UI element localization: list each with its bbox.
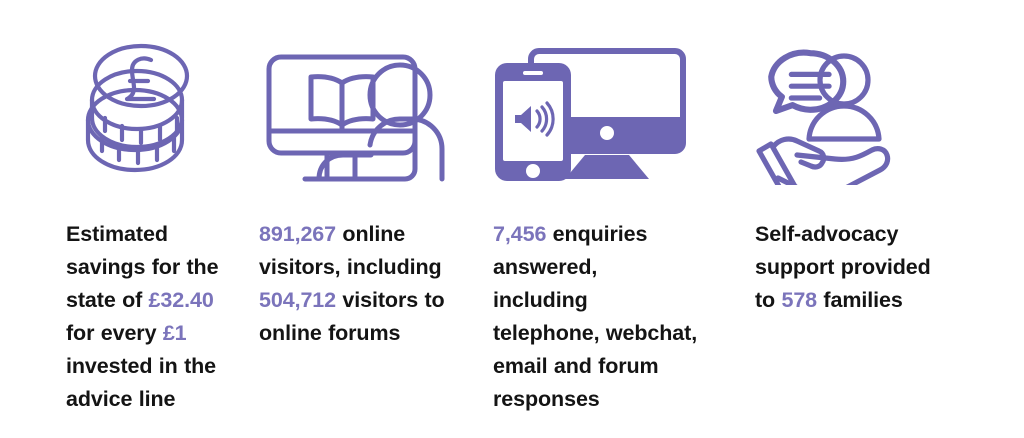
stat-segment: families xyxy=(817,288,903,312)
stat-value: 7,456 xyxy=(493,222,546,246)
stat-column-self-advocacy: Self-advocacy support provided to 578 fa… xyxy=(737,0,1024,317)
stat-column-savings: Estimated savings for the state of £32.4… xyxy=(0,0,240,416)
stat-text-self-advocacy: Self-advocacy support provided to 578 fa… xyxy=(755,218,937,317)
stat-text-online-visitors: 891,267 online visitors, including 504,7… xyxy=(259,218,449,350)
stat-value: £1 xyxy=(163,321,187,345)
stat-segment: invested in the advice line xyxy=(66,354,216,411)
impact-statistics-infographic: Estimated savings for the state of £32.4… xyxy=(0,0,1024,438)
phone-earpiece xyxy=(523,71,543,75)
stat-value: 578 xyxy=(781,288,817,312)
stat-value: £32.40 xyxy=(149,288,214,312)
stat-column-online-visitors: 891,267 online visitors, including 504,7… xyxy=(240,0,477,350)
stat-segment: for every xyxy=(66,321,163,345)
open-hand-icon xyxy=(759,139,888,185)
stat-column-enquiries: 7,456 enquiries answered, including tele… xyxy=(477,0,737,416)
coin-stack-pound-icon xyxy=(66,0,240,218)
stat-value: 891,267 xyxy=(259,222,336,246)
person-speech-bubble-hand-icon xyxy=(755,0,1024,218)
stat-text-savings: Estimated savings for the state of £32.4… xyxy=(66,218,240,416)
monitor-stand xyxy=(565,155,649,179)
stat-value: 504,712 xyxy=(259,288,336,312)
monitor-book-person-icon xyxy=(259,0,477,218)
monitor-indicator-dot xyxy=(600,126,614,140)
phone-home-button xyxy=(526,164,540,178)
phone-and-desktop-icon xyxy=(493,0,737,218)
stat-segment: enquiries answered, including telephone,… xyxy=(493,222,697,411)
stat-text-enquiries: 7,456 enquiries answered, including tele… xyxy=(493,218,698,416)
